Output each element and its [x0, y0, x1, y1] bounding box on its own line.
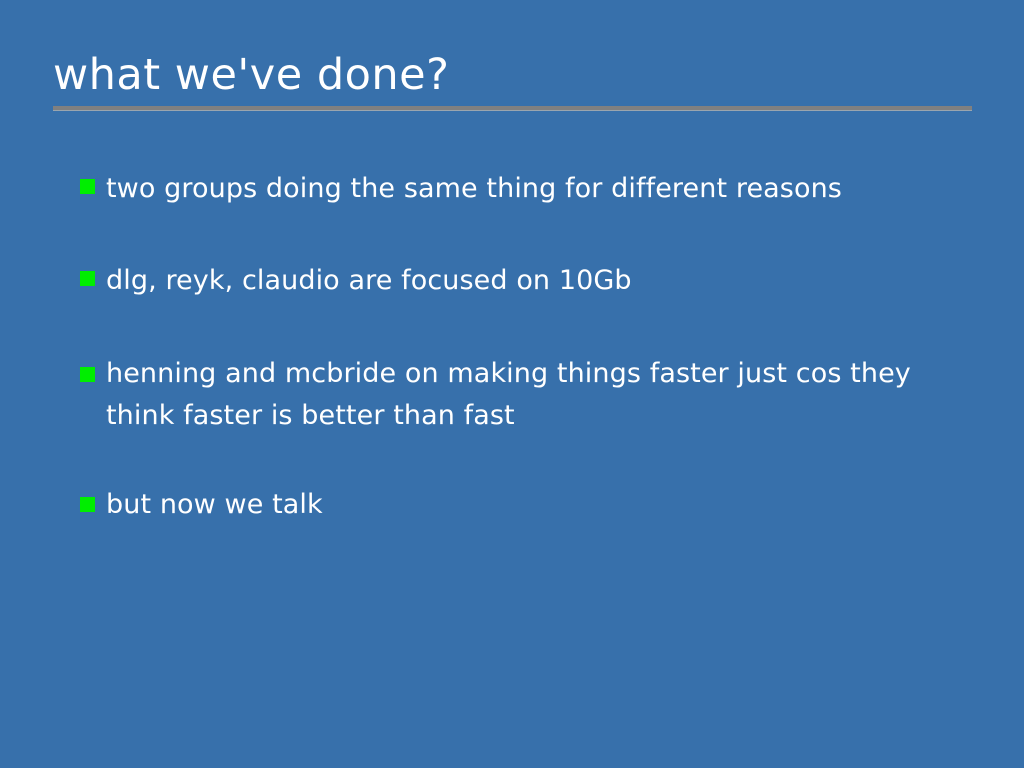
square-bullet-icon	[80, 497, 95, 512]
list-item-text: but now we talk	[106, 483, 980, 527]
title-underline-rule	[53, 106, 972, 111]
list-item: henning and mcbride on making things fas…	[80, 353, 980, 437]
list-item: dlg, reyk, claudio are focused on 10Gb	[80, 257, 980, 305]
square-bullet-icon	[80, 271, 95, 286]
page-title: what we've done?	[53, 48, 973, 102]
list-item-text: dlg, reyk, claudio are focused on 10Gb	[106, 257, 980, 305]
list-item-text: henning and mcbride on making things fas…	[106, 353, 966, 437]
list-item-text: two groups doing the same thing for diff…	[106, 165, 846, 213]
slide-title-block: what we've done?	[53, 48, 973, 102]
square-bullet-icon	[80, 179, 95, 194]
bullet-list: two groups doing the same thing for diff…	[80, 165, 980, 527]
list-item: two groups doing the same thing for diff…	[80, 165, 980, 213]
square-bullet-icon	[80, 367, 95, 382]
list-item: but now we talk	[80, 483, 980, 527]
presentation-slide: what we've done? two groups doing the sa…	[0, 0, 1024, 768]
